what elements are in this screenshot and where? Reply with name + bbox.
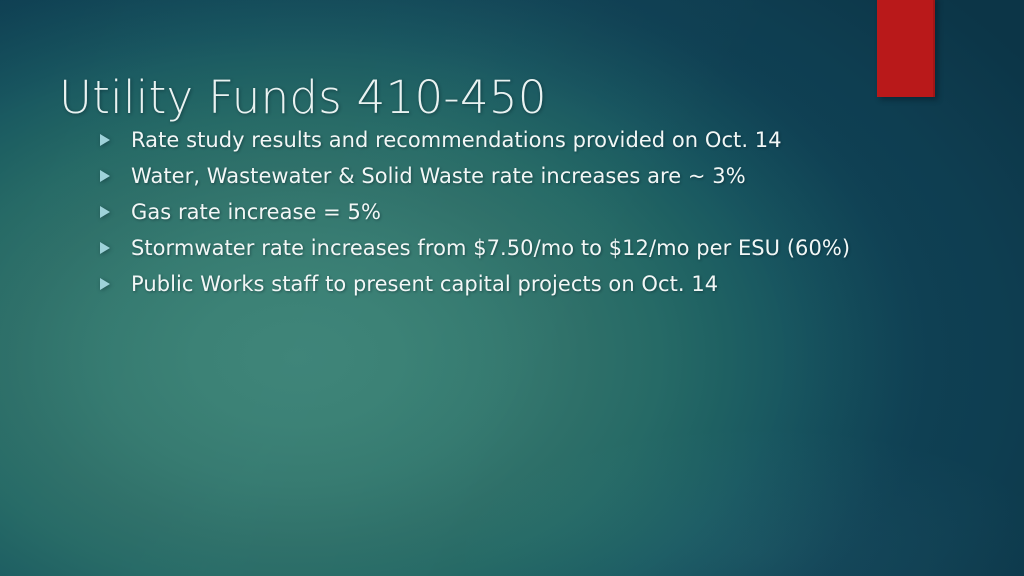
triangle-right-icon xyxy=(100,278,110,290)
list-item: Water, Wastewater & Solid Waste rate inc… xyxy=(98,158,958,194)
list-item: Gas rate increase = 5% xyxy=(98,194,958,230)
bullet-text: Gas rate increase = 5% xyxy=(131,199,381,225)
list-item: Public Works staff to present capital pr… xyxy=(98,266,958,302)
list-item: Rate study results and recommendations p… xyxy=(98,122,958,158)
triangle-right-icon xyxy=(100,170,110,182)
bullet-text: Rate study results and recommendations p… xyxy=(131,127,782,153)
triangle-right-icon xyxy=(100,206,110,218)
list-item: Stormwater rate increases from $7.50/mo … xyxy=(98,230,958,266)
triangle-right-icon xyxy=(100,134,110,146)
triangle-right-icon xyxy=(100,242,110,254)
bullet-list: Rate study results and recommendations p… xyxy=(98,122,958,302)
bullet-text: Public Works staff to present capital pr… xyxy=(131,271,718,297)
slide-title: Utility Funds 410-450 xyxy=(59,70,849,126)
bullet-text: Stormwater rate increases from $7.50/mo … xyxy=(131,235,850,261)
red-accent-rectangle xyxy=(877,0,935,97)
presentation-slide: Utility Funds 410-450 Rate study results… xyxy=(0,0,1024,576)
bullet-text: Water, Wastewater & Solid Waste rate inc… xyxy=(131,163,746,189)
